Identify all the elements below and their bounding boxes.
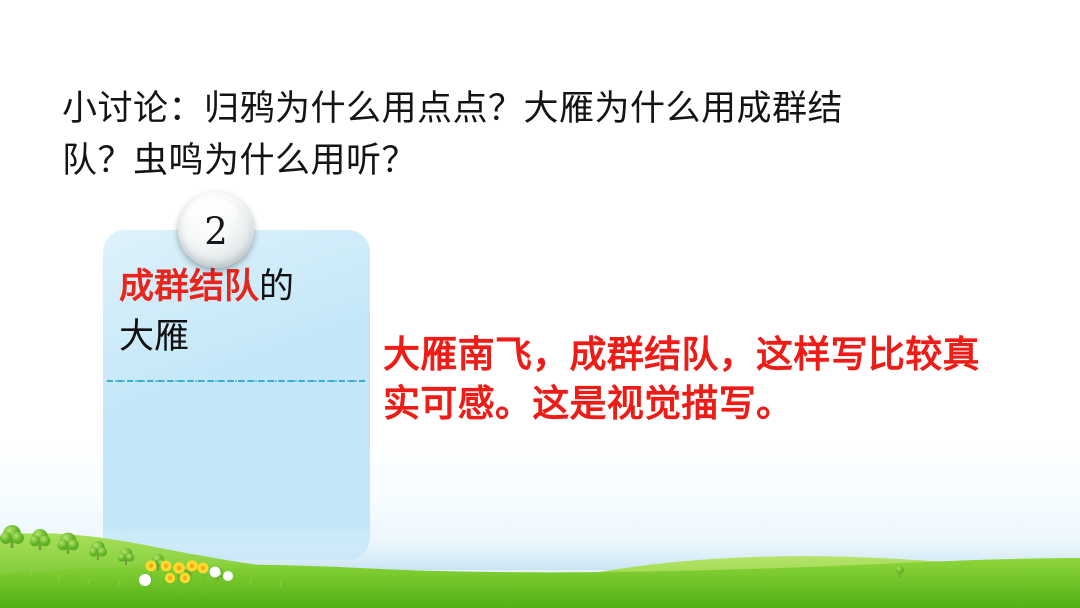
- hill-right-back: [540, 556, 1080, 608]
- step-number-label: 2: [204, 213, 228, 250]
- vocabulary-card: 成群结队的 大雁: [103, 230, 370, 560]
- card-word-line2: 大雁: [119, 312, 365, 362]
- slide-canvas: 小讨论：归鸦为什么用点点？大雁为什么用成群结 队？虫鸣为什么用听？ 成群结队的 …: [0, 0, 1080, 608]
- dandelion-puffs: [139, 567, 233, 586]
- grass-tufts: [30, 570, 282, 586]
- yellow-flowers: [146, 560, 209, 583]
- card-word-highlight: 成群结队: [119, 266, 259, 307]
- card-word-suffix: 的: [259, 267, 294, 307]
- page-title: 小讨论：归鸦为什么用点点？大雁为什么用成群结 队？虫鸣为什么用听？: [62, 83, 1022, 187]
- card-word-line1: 成群结队的: [119, 262, 365, 312]
- flower-cluster: [139, 560, 233, 594]
- step-number-badge: 2: [178, 192, 254, 268]
- dashed-divider: [107, 380, 365, 382]
- commentary-text: 大雁南飞，成群结队，这样写比较真 实可感。这是视觉描写。: [383, 330, 1063, 428]
- hill-front: [0, 558, 1080, 608]
